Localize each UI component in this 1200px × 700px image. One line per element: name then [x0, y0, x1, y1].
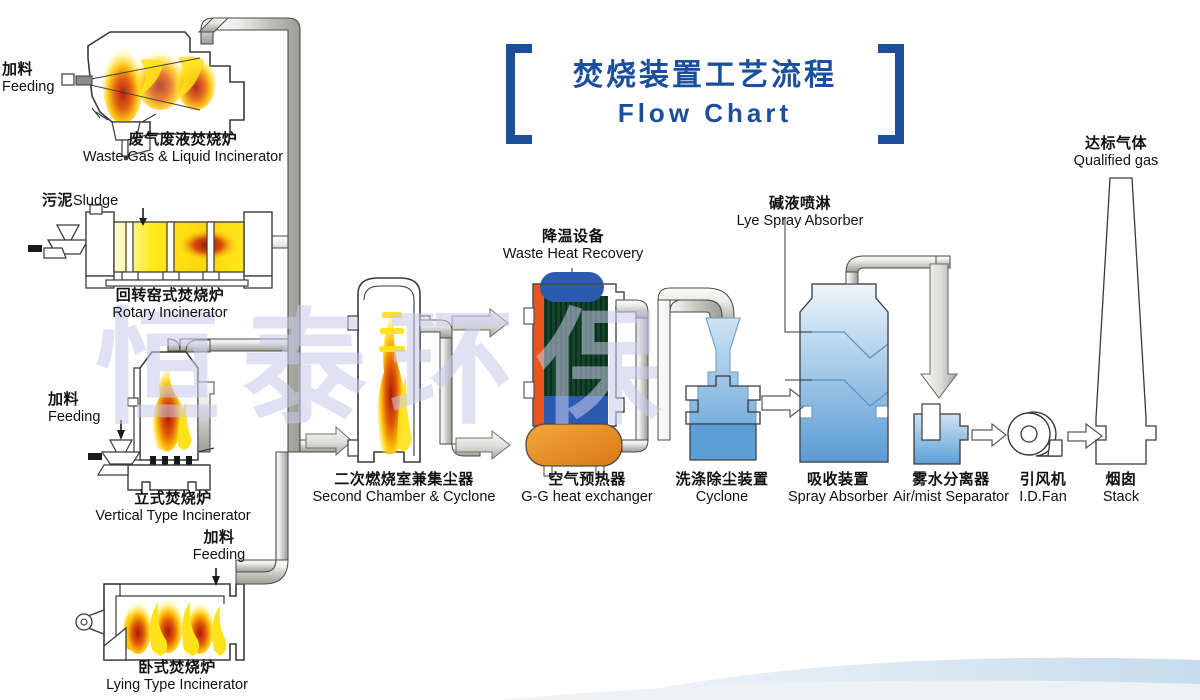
- arrow-to-separator: [921, 264, 957, 398]
- rotary-incinerator-graphic: [28, 205, 272, 288]
- air-mist-separator-graphic: [914, 404, 1006, 464]
- page-title-cn: 焚烧装置工艺流程: [500, 50, 910, 94]
- title-block: 焚烧装置工艺流程 Flow Chart: [500, 36, 910, 156]
- cyclone-scrubber-graphic: [686, 318, 808, 460]
- id-fan-graphic: [1008, 412, 1102, 456]
- page-title-en: Flow Chart: [500, 98, 910, 129]
- gg-heat-exchanger-graphic: [526, 424, 622, 476]
- vertical-incinerator-graphic: [88, 340, 214, 490]
- waste-gas-liquid-incinerator-graphic: [62, 18, 244, 160]
- second-chamber-cyclone-graphic: [348, 278, 510, 462]
- stack-graphic: [1096, 178, 1156, 464]
- lying-incinerator-graphic: [76, 560, 288, 660]
- decorative-swoosh: [500, 658, 1200, 700]
- flow-diagram-canvas: 焚烧装置工艺流程 Flow Chart 恒泰环保 加料 Feeding 污泥Sl…: [0, 0, 1200, 700]
- waste-heat-recovery-graphic: [524, 268, 624, 438]
